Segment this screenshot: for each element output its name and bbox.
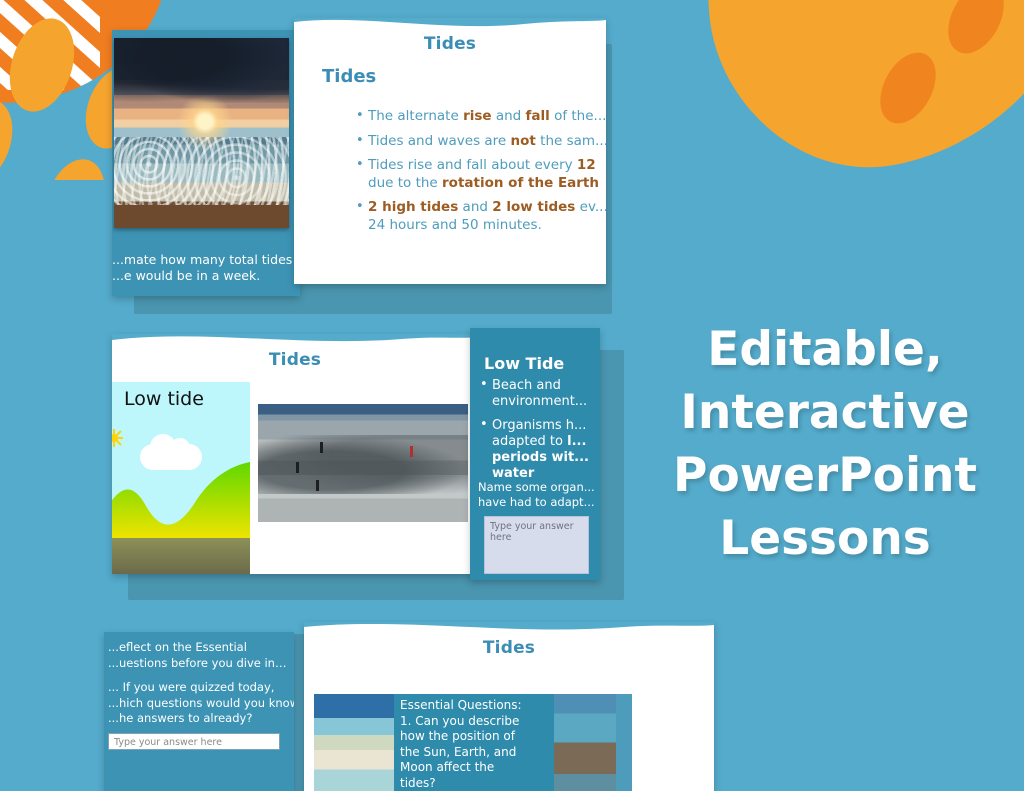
slide-tides-question[interactable]: ...mate how many total tides ...e would …	[112, 30, 300, 296]
slide-wave-header	[112, 334, 478, 350]
bullet-1: The alternate rise and fall of the...	[356, 108, 606, 126]
bullet-1: Beach and environment...	[480, 378, 600, 410]
answer-input-middle[interactable]: Type your answer here	[484, 516, 589, 574]
poster-headline: Editable, Interactive PowerPoint Lessons	[640, 318, 1010, 570]
slide-essential-questions[interactable]: Tides Essential Questions: 1. Can you de…	[304, 622, 714, 791]
diagram-ground	[112, 538, 250, 574]
low-tide-diagram: Low tide	[112, 382, 250, 574]
reflection-intro: ...eflect on the Essential ...uestions b…	[108, 640, 294, 671]
reflection-question-1: ... If you were quizzed today, ...hich q…	[108, 680, 294, 727]
low-tide-bullet-list: Beach and environment... Organisms h... …	[480, 378, 600, 490]
tropical-beach-photo	[314, 694, 396, 791]
poster-canvas: ...mate how many total tides ...e would …	[0, 0, 1024, 791]
slide-wave-header	[304, 622, 714, 638]
photo-figure	[296, 462, 299, 473]
slide-group-middle: Tides Low tide	[104, 328, 624, 600]
headline-line-4: Lessons	[640, 507, 1010, 570]
headline-line-3: PowerPoint	[640, 444, 1010, 507]
photo-figure	[410, 446, 413, 457]
bullet-4: 2 high tides and 2 low tides ev...	[356, 199, 606, 217]
diagram-label: Low tide	[124, 388, 204, 410]
slide-tides-facts[interactable]: Tides Tides The alternate rise and fall …	[294, 18, 606, 284]
photo-foam	[114, 137, 289, 205]
sunset-beach-photo	[114, 38, 289, 228]
content-heading: Tides	[322, 66, 376, 87]
slide-question-text: ...mate how many total tides ...e would …	[112, 252, 300, 284]
sun-icon	[112, 428, 124, 448]
panel-prompt: Name some organ... have had to adapt...	[478, 480, 600, 510]
diagram-hill	[112, 462, 250, 540]
bullet-4-cont: 24 hours and 50 minutes.	[356, 217, 606, 235]
slide-low-tide[interactable]: Tides Low tide	[112, 334, 478, 574]
cloud-icon	[140, 444, 202, 470]
slide-wave-header	[294, 18, 606, 34]
bullet-2: Organisms h... adapted to l... periods w…	[480, 418, 600, 482]
slide-title: Tides	[304, 638, 714, 658]
decorative-blob-top-right	[704, 0, 1024, 200]
answer-input-bottom[interactable]: Type your answer here	[108, 733, 280, 750]
panel-heading: Low Tide	[484, 354, 564, 373]
slide-group-top: ...mate how many total tides ...e would …	[112, 18, 612, 314]
slide-low-tide-detail[interactable]: Low Tide Beach and environment... Organi…	[470, 328, 600, 580]
essential-questions-panel: Essential Questions: 1. Can you describe…	[394, 694, 554, 791]
slide-reflection[interactable]: ...eflect on the Essential ...uestions b…	[104, 632, 294, 791]
rocky-shore-photo	[554, 694, 616, 791]
headline-line-1: Editable,	[640, 318, 1010, 381]
slide-accent-strip	[616, 694, 632, 791]
bullet-3-cont: due to the rotation of the Earth	[356, 175, 606, 193]
headline-line-2: Interactive	[640, 381, 1010, 444]
bullet-2: Tides and waves are not the sam...	[356, 133, 606, 151]
photo-figure	[316, 480, 319, 491]
low-tide-beach-photo	[258, 404, 468, 522]
photo-clouds	[114, 38, 289, 103]
photo-wet-sand	[258, 435, 468, 494]
tides-bullet-list: The alternate rise and fall of the... Ti…	[316, 108, 606, 241]
slide-title: Tides	[112, 350, 478, 370]
slide-title: Tides	[294, 34, 606, 54]
bullet-3: Tides rise and fall about every 12	[356, 157, 606, 175]
slide-group-bottom: ...eflect on the Essential ...uestions b…	[104, 622, 624, 791]
photo-figure	[320, 442, 323, 453]
